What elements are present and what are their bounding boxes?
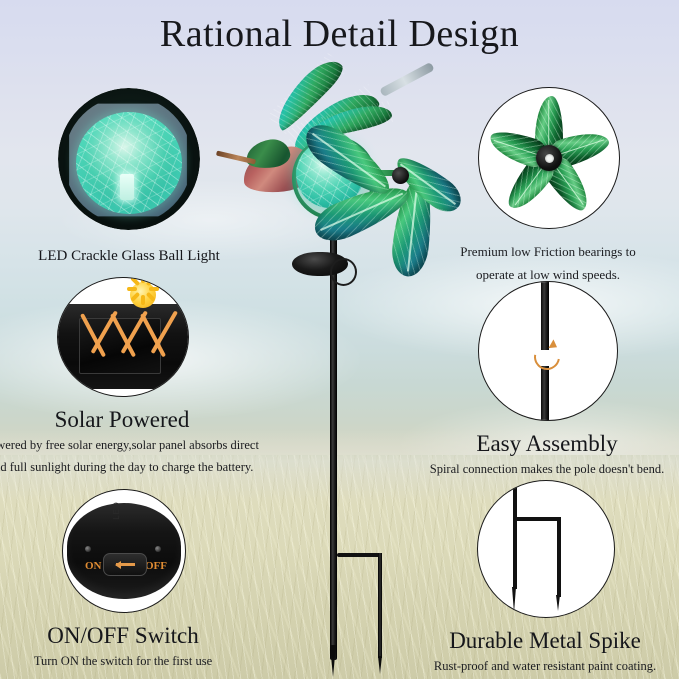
feature-led-light-title: LED Crackle Glass Ball Light xyxy=(24,248,234,265)
feature-bearings: Premium low Friction bearings to operate… xyxy=(478,87,663,287)
switch-off-label: OFF xyxy=(145,560,167,572)
page-title: Rational Detail Design xyxy=(0,12,679,56)
infographic-page: Rational Detail Design xyxy=(0,0,679,679)
switch-screw xyxy=(85,546,91,552)
feature-bearings-subtitle-line1: Premium low Friction bearings to xyxy=(433,241,663,264)
switch-emboss-label: LED xyxy=(112,501,121,520)
feature-assembly-subtitle: Spiral connection makes the pole doesn't… xyxy=(397,459,679,481)
onoff-switch-icon: LED ON OFF xyxy=(62,489,186,613)
switch-screw xyxy=(155,546,161,552)
feature-solar-subtitle-line2: and full sunlight during the day to char… xyxy=(0,457,301,479)
glass-ball-icon xyxy=(58,88,200,230)
metal-spike-icon xyxy=(477,480,615,618)
feature-switch: LED ON OFF ON/OFF Switch Turn ON the swi… xyxy=(62,489,263,673)
bearing-hub-icon xyxy=(536,145,562,171)
sun-icon xyxy=(130,282,156,308)
switch-rocker[interactable] xyxy=(103,553,146,576)
feature-spike: Durable Metal Spike Rust-proof and water… xyxy=(477,480,679,678)
feature-spike-subtitle: Rust-proof and water resistant paint coa… xyxy=(390,656,679,678)
leaf-pinwheel-icon xyxy=(478,87,620,229)
feature-switch-subtitle: Turn ON the switch for the first use xyxy=(0,651,263,673)
switch-on-label: ON xyxy=(85,560,102,572)
feature-solar-title: Solar Powered xyxy=(2,407,242,433)
solar-panel-icon xyxy=(57,277,189,397)
rotate-arrow-icon xyxy=(529,339,565,375)
feature-switch-title: ON/OFF Switch xyxy=(13,623,233,649)
switch-arrow-icon xyxy=(116,563,135,566)
feature-solar-subtitle-line1: Powered by free solar energy,solar panel… xyxy=(0,435,301,457)
feature-assembly: Easy Assembly Spiral connection makes th… xyxy=(478,281,679,481)
feature-led-light: LED Crackle Glass Ball Light xyxy=(58,88,234,265)
feature-assembly-title: Easy Assembly xyxy=(432,431,662,457)
spiral-connector-icon xyxy=(478,281,618,421)
feature-solar: Solar Powered Powered by free solar ener… xyxy=(57,277,301,479)
feature-spike-title: Durable Metal Spike xyxy=(420,628,670,654)
